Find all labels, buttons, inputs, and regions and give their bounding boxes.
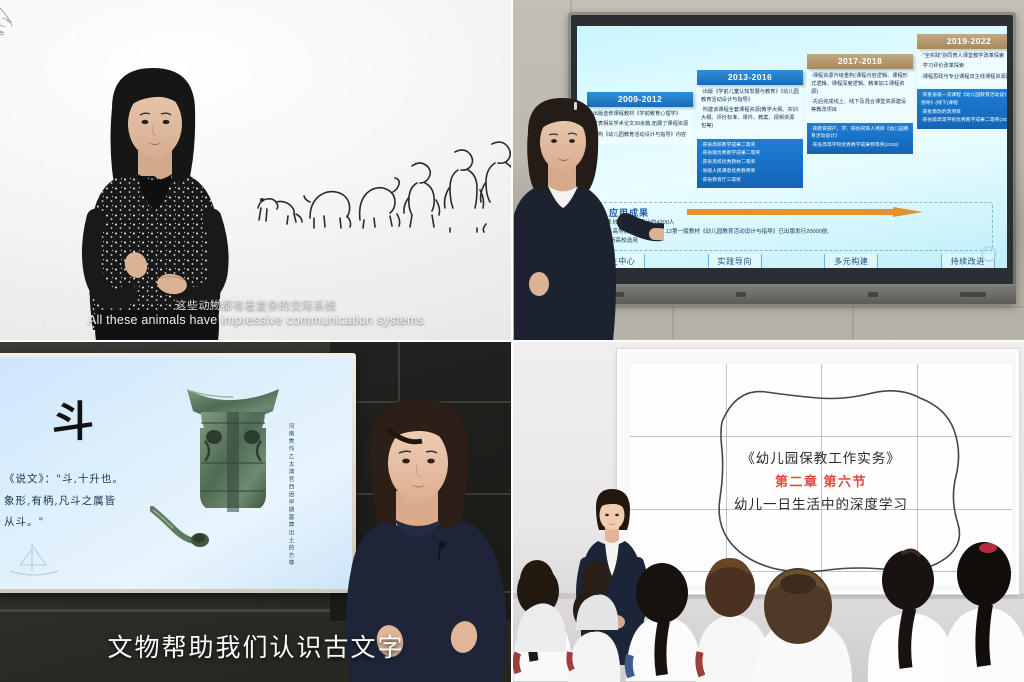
grid-divider-horizontal bbox=[0, 340, 1024, 342]
timeline-period-label: 2013-2016 bbox=[697, 70, 803, 85]
tray-control[interactable] bbox=[868, 292, 878, 297]
tray-control[interactable] bbox=[960, 292, 986, 297]
shelf-rail bbox=[0, 609, 330, 612]
panel-bottom-left[interactable]: 斗 《说文》："斗,十升也。 象形,有柄,凡斗之属皆 从斗。" bbox=[0, 341, 512, 682]
bullet: ·先后完成线上、线下及混合课堂资源建设等教改项目 bbox=[811, 98, 909, 114]
human-evolution-illustration bbox=[252, 122, 512, 234]
student-back-view bbox=[512, 556, 570, 652]
timeline-bullets: ·出版《学前儿童认知发展与教育》《幼儿园教育活动设计与指导》 ·构建该课程全套课… bbox=[697, 85, 803, 136]
section-title: 幼儿一日生活中的深度学习 bbox=[630, 494, 1012, 517]
pill-multi-construct[interactable]: 多元构建 bbox=[824, 254, 878, 268]
timeline-awards: ·获省高校教学成果二等奖 ·获省级优秀教学成果二等奖 ·获省高校优秀教材二等奖 … bbox=[697, 139, 803, 188]
wall-seam bbox=[852, 306, 854, 341]
award: ·获省高校教学成果二等奖 bbox=[701, 142, 799, 150]
timeline-bullets: ·"全实践"协同育人课堂教学改革探索 ·学习评价改革探索 ·课程思政与专业课程双… bbox=[917, 49, 1007, 87]
shuowen-quote: 《说文》："斗,十升也。 象形,有柄,凡斗之属皆 从斗。" bbox=[4, 469, 174, 534]
panel-top-right[interactable]: 2009-2012 ·出版选修课程教材《学前教育心理学》 ·发表相关学术论文30… bbox=[512, 0, 1024, 341]
student-back-view bbox=[572, 560, 624, 630]
award: ·省级人民满意优秀教师奖 bbox=[701, 168, 799, 176]
bullet: ·课程资源升级重构(课程内容逻辑、课程形式逻辑、课程深度逻辑、精准加工课程资源) bbox=[811, 72, 909, 96]
bullet: ·学习评价改革探索 bbox=[921, 62, 1007, 70]
award: ·获批省级一流课程《幼儿园教育活动设计与指导》(线下)课程 bbox=[921, 92, 1007, 107]
timeline-awards: ·获教育部产、学、研协同育人项目《幼儿园教育活动设计》 ·获省高等学校优秀教学成… bbox=[807, 123, 913, 154]
bullet: ·出版《学前儿童认知发展与教育》《幼儿园教育活动设计与指导》 bbox=[701, 88, 799, 104]
bullet: ·课程思政与专业课程双主线课程资源建设 bbox=[921, 73, 1007, 81]
award: ·获省高校优秀教材二等奖 bbox=[701, 159, 799, 167]
timeline-awards: ·获批省级一流课程《幼儿园教育活动设计与指导》(线下)课程 ·获批教改的改项目 … bbox=[917, 89, 1007, 129]
subtitle-chinese: 文物帮助我们认识古文字 bbox=[0, 628, 512, 664]
book-title: 《幼儿园保教工作实务》 bbox=[630, 448, 1012, 470]
institution-logo-icon bbox=[981, 246, 997, 262]
timeline-period-label: 2019-2022 bbox=[917, 34, 1007, 49]
bronze-ladle-artifact bbox=[150, 505, 212, 547]
presenter-silhouette bbox=[60, 60, 250, 341]
bullet: ·"全实践"协同育人课堂教学改革探索 bbox=[921, 52, 1007, 60]
progress-arrow-icon bbox=[687, 207, 923, 217]
quote-line-2: 象形,有柄,凡斗之属皆 bbox=[4, 495, 116, 507]
award: ·获批教改的改项目 bbox=[921, 109, 1007, 117]
quote-line-1: "斗,十升也。 bbox=[56, 473, 124, 485]
award: ·获教育部产、学、研协同育人项目《幼儿园教育活动设计》 bbox=[811, 126, 909, 141]
artifact-caption: 河南焦作乙太清官西周早期墓葬出土的方尊 bbox=[286, 423, 294, 589]
boat-watermark bbox=[6, 537, 62, 579]
display-screen-frame[interactable]: 斗 《说文》："斗,十升也。 象形,有柄,凡斗之属皆 从斗。" bbox=[0, 353, 356, 593]
panel-bottom-right[interactable]: 《幼儿园保教工作实务》 第二章 第六节 幼儿一日生活中的深度学习 bbox=[512, 341, 1024, 682]
student-back-view bbox=[940, 532, 1024, 682]
award: ·获省级优秀教学成果二等奖 bbox=[701, 150, 799, 158]
award: ·获省级高等学校优秀教学成果二等奖(2021) bbox=[921, 117, 1007, 125]
student-back-view bbox=[744, 562, 854, 682]
bullet: ·构建该课程全套课程资源(教学大纲、实训大纲、评价标准、课件、教案、视频资源包等… bbox=[701, 106, 799, 130]
timeline-bullets: ·课程资源升级重构(课程内容逻辑、课程形式逻辑、课程深度逻辑、精准加工课程资源)… bbox=[807, 69, 913, 120]
slide-title-block: 《幼儿园保教工作实务》 第二章 第六节 幼儿一日生活中的深度学习 bbox=[630, 448, 1012, 517]
timeline-block-4: 2019-2022 ·"全实践"协同育人课堂教学改革探索 ·学习评价改革探索 ·… bbox=[917, 34, 1007, 129]
panel-top-left[interactable]: 这些动物都有着复杂的交际系统 All these animals have im… bbox=[0, 0, 512, 341]
quote-source: 《说文》： bbox=[4, 473, 56, 485]
video-grid: 这些动物都有着复杂的交际系统 All these animals have im… bbox=[0, 0, 1024, 682]
timeline-block-2: 2013-2016 ·出版《学前儿童认知发展与教育》《幼儿园教育活动设计与指导》… bbox=[697, 70, 803, 188]
oracle-bone-character: 斗 bbox=[52, 401, 94, 443]
timeline-period-label: 2017-2018 bbox=[807, 54, 913, 69]
tray-control[interactable] bbox=[736, 292, 746, 297]
chapter-label: 第二章 第六节 bbox=[630, 470, 1012, 495]
teacher-silhouette bbox=[514, 88, 664, 341]
wall-seam bbox=[672, 306, 674, 341]
award: ·获省高等学校优秀教学成果特等奖(2018) bbox=[811, 142, 909, 150]
branch-decoration-icon bbox=[0, 4, 44, 50]
award: ·获省教育厅三等奖 bbox=[701, 177, 799, 185]
slide-screen[interactable]: 斗 《说文》："斗,十升也。 象形,有柄,凡斗之属皆 从斗。" bbox=[0, 357, 352, 589]
pill-practice-oriented[interactable]: 实践导向 bbox=[708, 254, 762, 268]
quote-line-3: 从斗。" bbox=[4, 516, 44, 528]
timeline-block-3: 2017-2018 ·课程资源升级重构(课程内容逻辑、课程形式逻辑、课程深度逻辑… bbox=[807, 54, 913, 154]
